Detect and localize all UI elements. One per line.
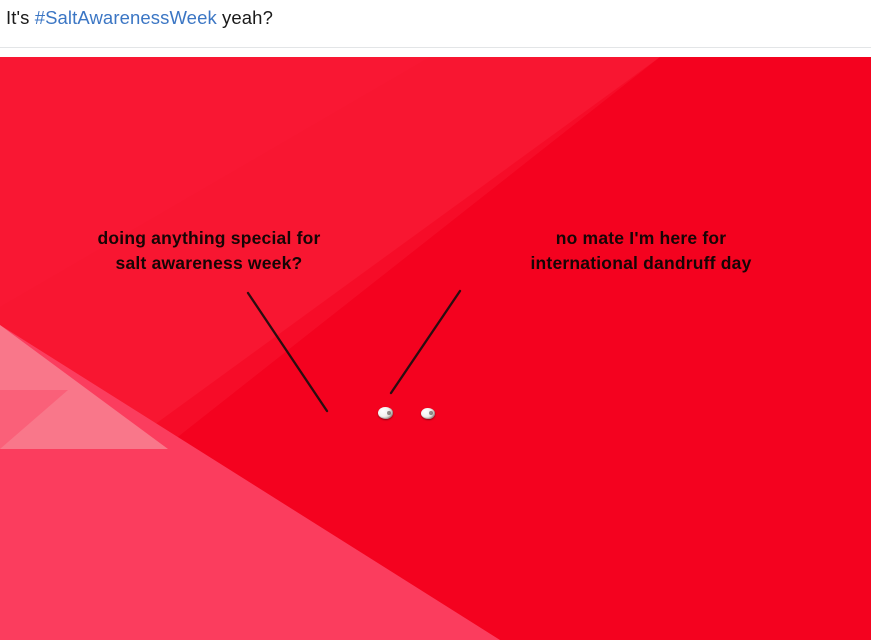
post-text: It's #SaltAwarenessWeek yeah? — [6, 5, 871, 31]
hashtag-link-saltawarenessweek[interactable]: #SaltAwarenessWeek — [35, 7, 217, 28]
header-whitespace — [0, 48, 871, 57]
caption-right: no mate I'm here for international dandr… — [512, 226, 770, 276]
post-text-after: yeah? — [217, 7, 273, 28]
post-header: It's #SaltAwarenessWeek yeah? — [0, 0, 871, 48]
header-divider — [0, 47, 871, 48]
salt-grain-right-icon — [421, 408, 435, 419]
post-text-before: It's — [6, 7, 35, 28]
caption-right-line-2: international dandruff day — [512, 251, 770, 276]
meme-background-graphic — [0, 57, 871, 640]
caption-left-line-2: salt awareness week? — [78, 251, 340, 276]
salt-grain-left-icon — [378, 407, 393, 419]
caption-right-line-1: no mate I'm here for — [512, 226, 770, 251]
meme-image[interactable]: doing anything special for salt awarenes… — [0, 57, 871, 640]
caption-left: doing anything special for salt awarenes… — [78, 226, 340, 276]
caption-left-line-1: doing anything special for — [78, 226, 340, 251]
